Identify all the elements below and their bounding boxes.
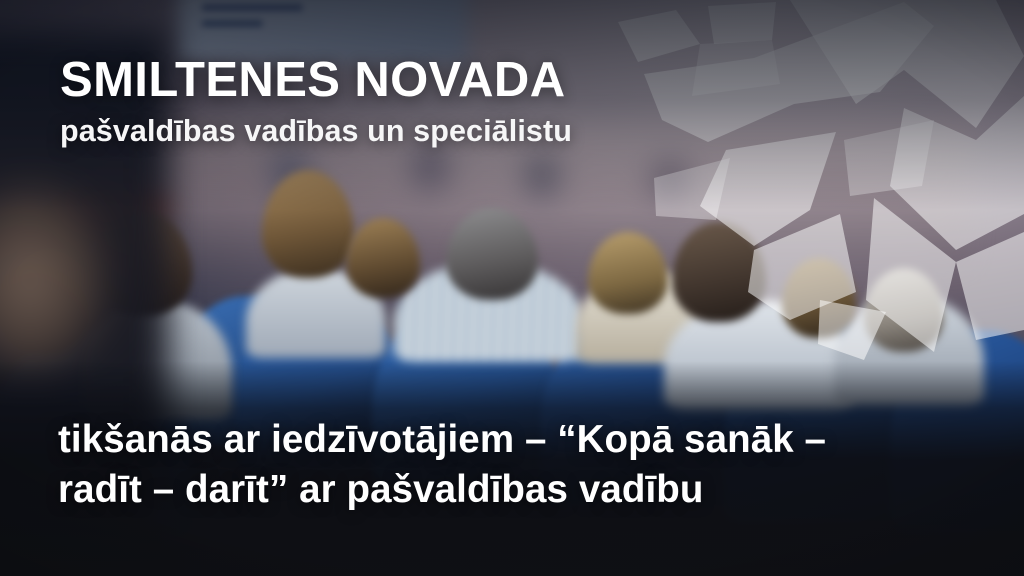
caption-line-1: tikšanās ar iedzīvotājiem – “Kopā sanāk … bbox=[58, 415, 984, 464]
banner-subtitle: pašvaldības vadības un speciālistu bbox=[60, 115, 572, 148]
title-block: SMILTENES NOVADA pašvaldības vadības un … bbox=[60, 56, 572, 148]
caption-block: tikšanās ar iedzīvotājiem – “Kopā sanāk … bbox=[58, 415, 984, 514]
promo-banner: SMILTENES NOVADA pašvaldības vadības un … bbox=[0, 0, 1024, 576]
banner-title: SMILTENES NOVADA bbox=[60, 56, 572, 106]
caption-line-2: radīt – darīt” ar pašvaldības vadību bbox=[58, 465, 984, 514]
